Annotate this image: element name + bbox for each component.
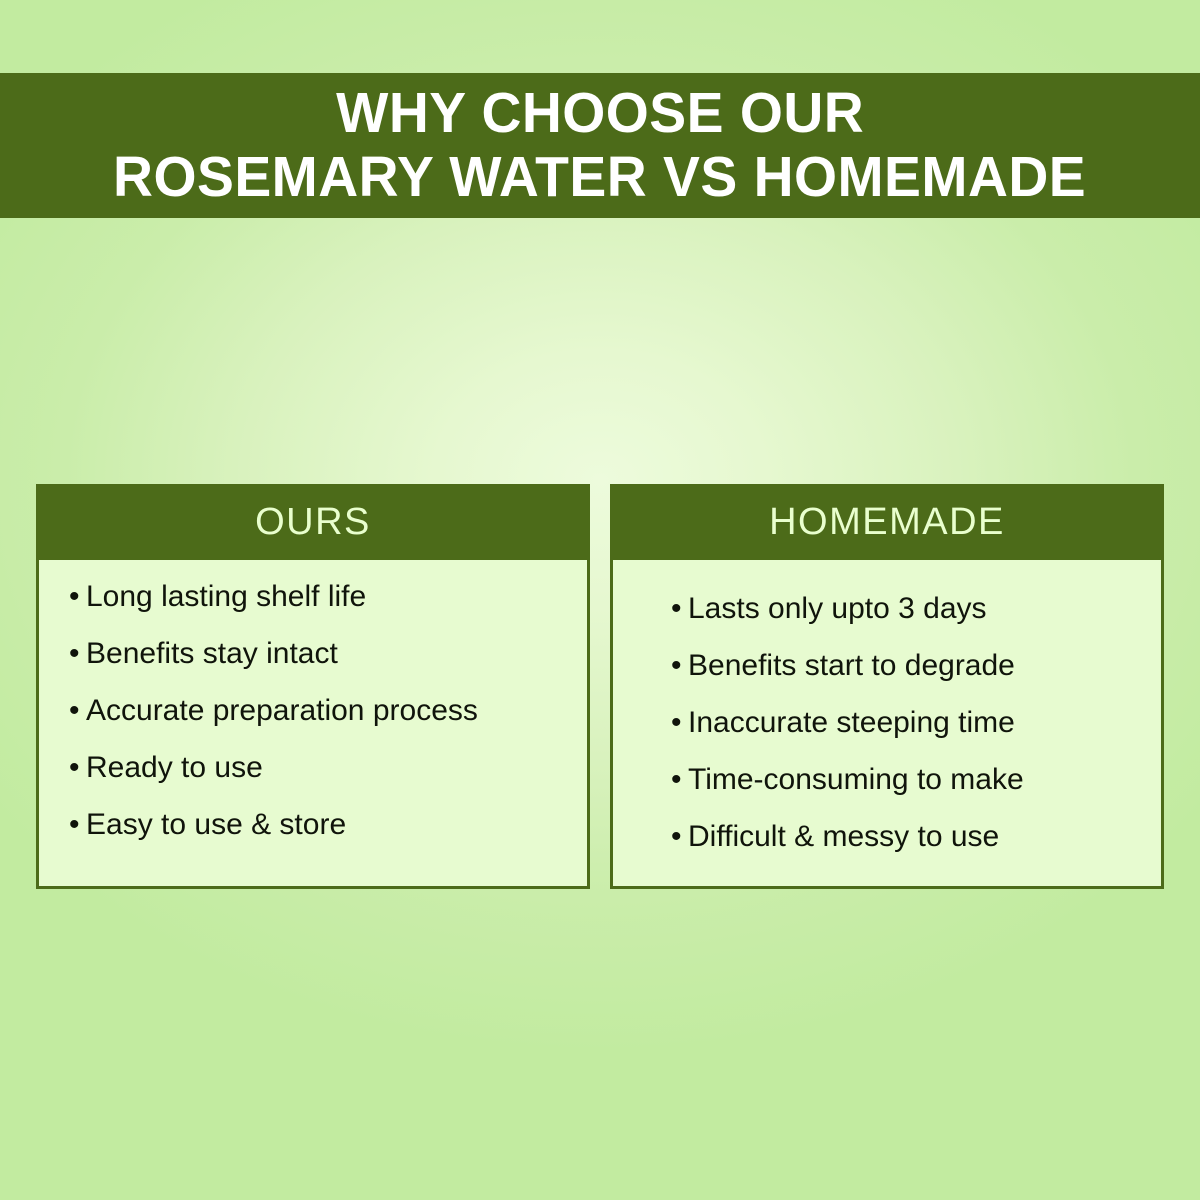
card-body-homemade: • Lasts only upto 3 days • Benefits star… [610,560,1164,889]
list-item: • Accurate preparation process [69,696,561,726]
card-header-title-ours: OURS [255,503,371,541]
bullet-dot-icon: • [69,696,86,726]
card-header-homemade: HOMEMADE [610,484,1164,560]
list-item-label: Benefits stay intact [86,639,338,669]
bullet-dot-icon: • [671,765,688,795]
list-item: • Long lasting shelf life [69,582,561,612]
list-item: • Inaccurate steeping time [671,708,1135,738]
bullet-list-ours: • Long lasting shelf life • Benefits sta… [69,582,561,840]
list-item-label: Difficult & messy to use [688,822,999,852]
bullet-list-homemade: • Lasts only upto 3 days • Benefits star… [671,594,1135,852]
list-item-label: Benefits start to degrade [688,651,1015,681]
list-item-label: Inaccurate steeping time [688,708,1015,738]
bullet-dot-icon: • [69,753,86,783]
title-line-1: WHY CHOOSE OUR [336,85,864,142]
list-item: • Lasts only upto 3 days [671,594,1135,624]
comparison-card-homemade: HOMEMADE • Lasts only upto 3 days • Bene… [610,484,1164,889]
list-item: • Time-consuming to make [671,765,1135,795]
comparison-cards: OURS • Long lasting shelf life • Benefit… [36,484,1164,889]
title-line-2: ROSEMARY WATER VS HOMEMADE [113,149,1086,206]
bullet-dot-icon: • [671,594,688,624]
list-item: • Benefits start to degrade [671,651,1135,681]
list-item-label: Time-consuming to make [688,765,1024,795]
title-banner: WHY CHOOSE OUR ROSEMARY WATER VS HOMEMAD… [0,73,1200,218]
list-item: • Benefits stay intact [69,639,561,669]
bullet-dot-icon: • [69,810,86,840]
list-item-label: Long lasting shelf life [86,582,366,612]
bullet-dot-icon: • [69,582,86,612]
bullet-dot-icon: • [671,822,688,852]
bullet-dot-icon: • [671,651,688,681]
list-item-label: Ready to use [86,753,263,783]
list-item: • Difficult & messy to use [671,822,1135,852]
comparison-card-ours: OURS • Long lasting shelf life • Benefit… [36,484,590,889]
card-header-title-homemade: HOMEMADE [769,503,1005,541]
list-item-label: Easy to use & store [86,810,346,840]
card-body-ours: • Long lasting shelf life • Benefits sta… [36,560,590,889]
card-header-ours: OURS [36,484,590,560]
bullet-dot-icon: • [671,708,688,738]
list-item: • Ready to use [69,753,561,783]
poster-canvas: WHY CHOOSE OUR ROSEMARY WATER VS HOMEMAD… [0,0,1200,1200]
list-item: • Easy to use & store [69,810,561,840]
list-item-label: Accurate preparation process [86,696,478,726]
list-item-label: Lasts only upto 3 days [688,594,987,624]
bullet-dot-icon: • [69,639,86,669]
